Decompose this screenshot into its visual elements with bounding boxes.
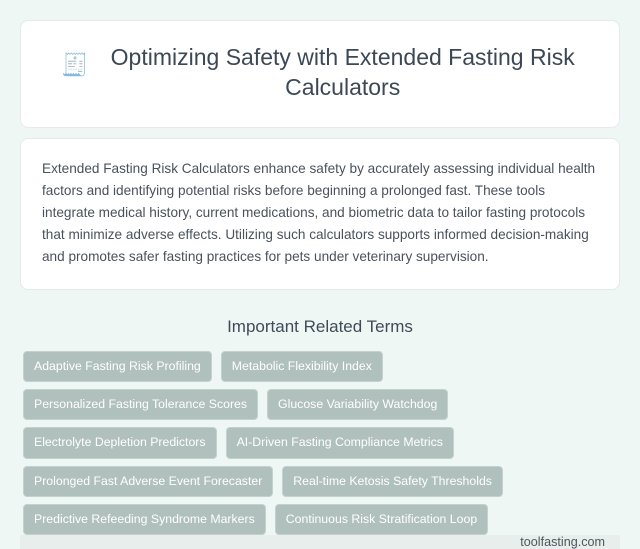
- tag-item[interactable]: Continuous Risk Stratification Loop: [275, 504, 488, 535]
- page-title: Optimizing Safety with Extended Fasting …: [106, 43, 579, 103]
- footer-site-name: toolfasting.com: [520, 535, 605, 549]
- tag-item[interactable]: Electrolyte Depletion Predictors: [23, 427, 217, 458]
- tag-item[interactable]: Metabolic Flexibility Index: [221, 351, 383, 382]
- tag-item[interactable]: Prolonged Fast Adverse Event Forecaster: [23, 466, 273, 497]
- related-terms-list: Adaptive Fasting Risk Profiling Metaboli…: [20, 351, 620, 535]
- footer-bar: toolfasting.com: [20, 535, 620, 549]
- related-terms-heading: Important Related Terms: [20, 317, 620, 337]
- description-text: Extended Fasting Risk Calculators enhanc…: [42, 158, 598, 268]
- page-root: 🧾 Optimizing Safety with Extended Fastin…: [0, 0, 640, 543]
- description-card: Extended Fasting Risk Calculators enhanc…: [20, 138, 620, 290]
- tag-item[interactable]: Glucose Variability Watchdog: [267, 389, 448, 420]
- tag-item[interactable]: AI-Driven Fasting Compliance Metrics: [226, 427, 454, 458]
- receipt-icon: 🧾: [61, 51, 88, 79]
- title-card: 🧾 Optimizing Safety with Extended Fastin…: [20, 20, 620, 128]
- tag-item[interactable]: Real-time Ketosis Safety Thresholds: [282, 466, 503, 497]
- tag-item[interactable]: Adaptive Fasting Risk Profiling: [23, 351, 212, 382]
- tag-item[interactable]: Predictive Refeeding Syndrome Markers: [23, 504, 266, 535]
- tag-item[interactable]: Personalized Fasting Tolerance Scores: [23, 389, 258, 420]
